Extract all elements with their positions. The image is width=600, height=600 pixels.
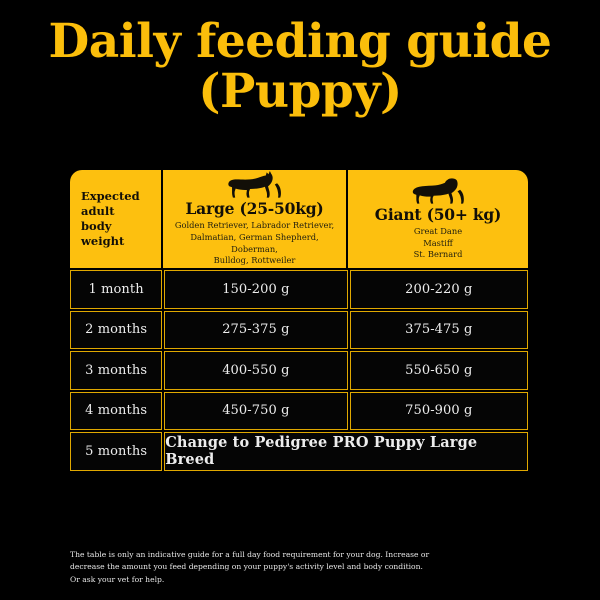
cell-age: 1 month — [70, 270, 162, 309]
header-giant-breed-line-3: St. Bernard — [414, 249, 463, 261]
cell-giant: 550-650 g — [350, 351, 528, 390]
header-cell-large: Large (25-50kg) Golden Retriever, Labrad… — [163, 170, 348, 268]
table-body: 1 month 150-200 g 200-220 g 2 months 275… — [70, 270, 528, 471]
german-shepherd-silhouette-icon — [228, 171, 282, 199]
feeding-table: Expected adult body weight Large (25-50k… — [70, 170, 528, 471]
header-weight-label-line-2: body weight — [81, 219, 155, 249]
cell-large: 150-200 g — [164, 270, 347, 309]
cell-large: 275-375 g — [164, 311, 347, 350]
footnote-line-2: decrease the amount you feed depending o… — [70, 561, 465, 573]
footnote: The table is only an indicative guide fo… — [70, 549, 465, 586]
page-title: Daily feeding guide (Puppy) — [0, 18, 600, 117]
header-giant-title: Giant (50+ kg) — [375, 206, 501, 223]
table-row: 4 months 450-750 g 750-900 g — [70, 392, 528, 431]
header-large-breed-line-1: Golden Retriever, Labrador Retriever, — [169, 220, 340, 232]
table-row: 3 months 400-550 g 550-650 g — [70, 351, 528, 390]
header-giant-breed-line-2: Mastiff — [414, 238, 463, 250]
header-weight-label-line-1: Expected adult — [81, 189, 155, 219]
table-row: 1 month 150-200 g 200-220 g — [70, 270, 528, 309]
table-row: 2 months 275-375 g 375-475 g — [70, 311, 528, 350]
page-title-line-2: (Puppy) — [0, 68, 600, 116]
header-cell-expected-adult-body-weight: Expected adult body weight — [70, 170, 163, 268]
footnote-line-1: The table is only an indicative guide fo… — [70, 549, 465, 561]
cell-large: 450-750 g — [164, 392, 347, 431]
feeding-guide-poster: Daily feeding guide (Puppy) Expected adu… — [0, 0, 600, 600]
cell-change-notice: Change to Pedigree PRO Puppy Large Breed — [164, 432, 528, 471]
header-cell-giant: Giant (50+ kg) Great Dane Mastiff St. Be… — [348, 170, 528, 268]
footnote-line-3: Or ask your vet for help. — [70, 574, 465, 586]
cell-age: 3 months — [70, 351, 162, 390]
page-title-line-1: Daily feeding guide — [0, 18, 600, 66]
header-large-title: Large (25-50kg) — [185, 200, 323, 217]
cell-giant: 375-475 g — [350, 311, 528, 350]
cell-age: 4 months — [70, 392, 162, 431]
mastiff-silhouette-icon — [412, 177, 464, 205]
header-large-breed-line-3: Bulldog, Rottweiler — [169, 255, 340, 267]
cell-giant: 750-900 g — [350, 392, 528, 431]
table-row: 5 months Change to Pedigree PRO Puppy La… — [70, 432, 528, 471]
table-header-row: Expected adult body weight Large (25-50k… — [70, 170, 528, 268]
header-large-breed-line-2: Dalmatian, German Shepherd, Doberman, — [169, 232, 340, 256]
cell-giant: 200-220 g — [350, 270, 528, 309]
header-giant-breed-line-1: Great Dane — [414, 226, 463, 238]
cell-large: 400-550 g — [164, 351, 347, 390]
cell-age: 2 months — [70, 311, 162, 350]
cell-age: 5 months — [70, 432, 162, 471]
